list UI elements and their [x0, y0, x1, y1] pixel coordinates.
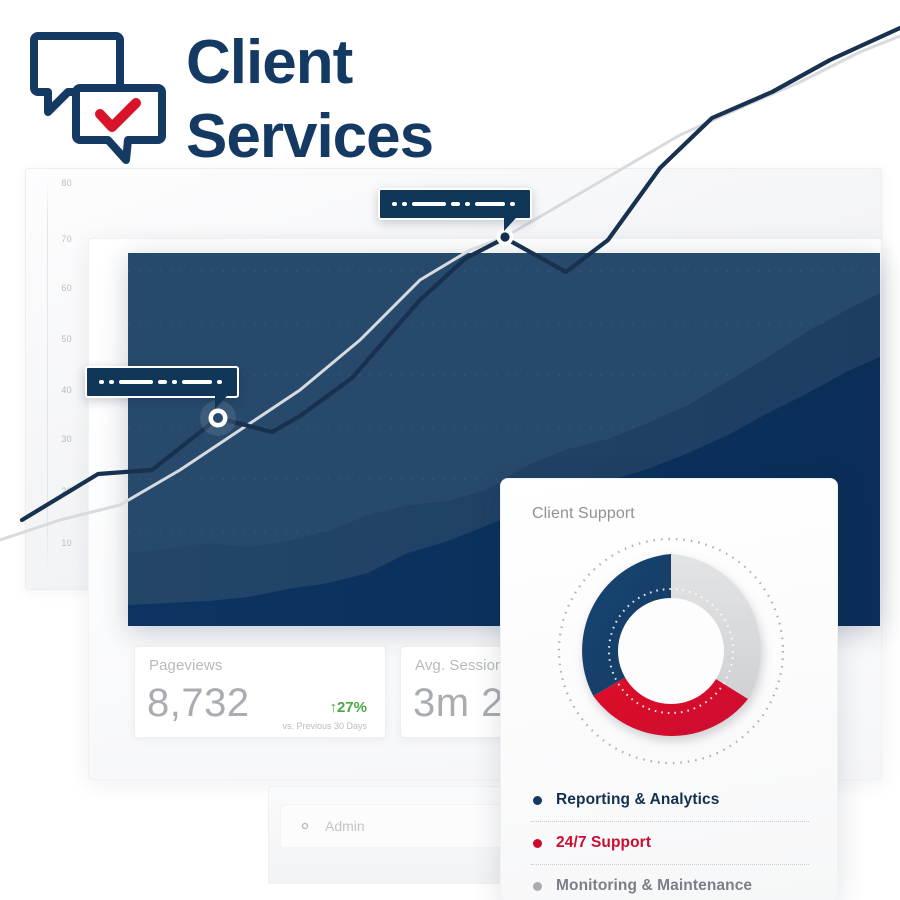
- client-support-title: Client Support: [532, 505, 635, 523]
- tooltip-mark: [172, 380, 177, 384]
- tooltip-mark: [451, 202, 460, 206]
- legend-dot-icon: [533, 796, 542, 805]
- y-tick-80: 80: [30, 178, 72, 188]
- legend-item-support[interactable]: 24/7 Support: [531, 822, 811, 864]
- stat-delta-badge: ↑27%: [329, 699, 367, 716]
- legend-dot-icon: [533, 882, 542, 891]
- legend-item-monitoring[interactable]: Monitoring & Maintenance: [531, 865, 811, 900]
- y-tick-60: 60: [30, 283, 72, 293]
- chat-bubbles-check-icon: [28, 26, 178, 171]
- y-tick-30: 30: [30, 434, 72, 444]
- page-title-line1: Client: [186, 26, 606, 100]
- gear-icon: [297, 818, 313, 834]
- legend-item-reporting[interactable]: Reporting & Analytics: [531, 779, 811, 821]
- legend-label: Reporting & Analytics: [556, 791, 719, 809]
- stat-label: Pageviews: [149, 657, 222, 674]
- client-support-card: Client Support: [500, 478, 838, 900]
- tooltip-mark: [158, 380, 167, 384]
- page-title-line2: Services: [186, 100, 606, 174]
- legend-dot-icon: [533, 839, 542, 848]
- tooltip-mark: [217, 380, 222, 384]
- admin-label: Admin: [325, 818, 365, 834]
- y-axis: 80 70 60 50 40 30 20 10: [30, 170, 90, 570]
- tooltip-mark: [182, 380, 212, 384]
- y-tick-50: 50: [30, 334, 72, 344]
- tooltip-mark: [475, 202, 505, 206]
- legend-label: 24/7 Support: [556, 834, 651, 852]
- tooltip-mark: [465, 202, 470, 206]
- tooltip-mark: [392, 202, 397, 206]
- chart-tooltip-upper[interactable]: [378, 188, 532, 220]
- brand-logo: [28, 26, 178, 171]
- stat-value: 8,732: [147, 681, 250, 726]
- tooltip-mark: [109, 380, 114, 384]
- y-tick-40: 40: [30, 385, 72, 395]
- stat-card-pageviews[interactable]: Pageviews 8,732 ↑27% vs. Previous 30 Day…: [134, 646, 386, 738]
- legend-label: Monitoring & Maintenance: [556, 877, 752, 895]
- client-support-legend: Reporting & Analytics 24/7 Support Monit…: [531, 779, 811, 900]
- y-tick-10: 10: [30, 538, 72, 548]
- chart-tooltip-lower[interactable]: [85, 366, 239, 398]
- stat-comparison-label: vs. Previous 30 Days: [282, 721, 367, 731]
- poster-canvas: 80 70 60 50 40 30 20 10: [0, 0, 900, 900]
- tooltip-mark: [99, 380, 104, 384]
- tooltip-mark: [510, 202, 515, 206]
- client-support-donut-chart: [549, 531, 794, 776]
- tooltip-mark: [412, 202, 446, 206]
- y-tick-70: 70: [30, 234, 72, 244]
- tooltip-mark: [402, 202, 407, 206]
- y-tick-20: 20: [30, 486, 72, 496]
- page-title: Client Services: [186, 26, 606, 174]
- tooltip-mark: [119, 380, 153, 384]
